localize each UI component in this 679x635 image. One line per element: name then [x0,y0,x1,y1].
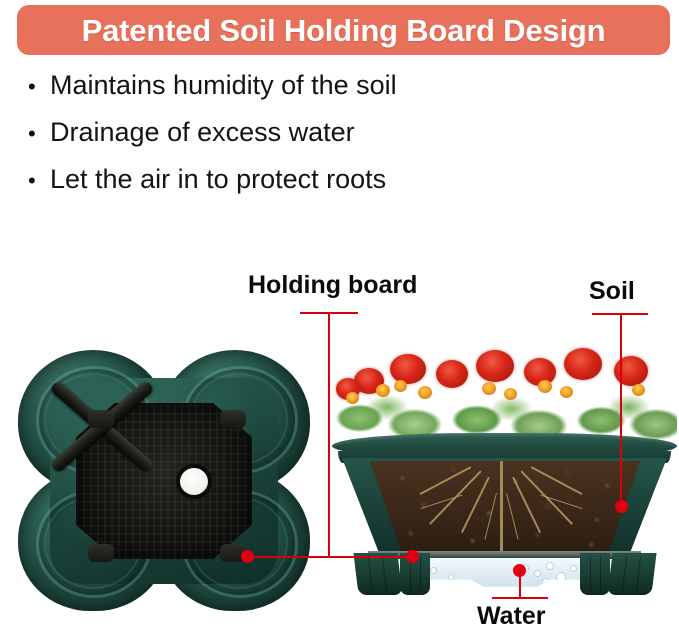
leader-line-soil-vertical [620,313,622,506]
list-item: • Let the air in to protect roots [28,166,588,213]
flower-canopy [332,330,677,440]
list-item: • Drainage of excess water [28,119,588,166]
feature-list: • Maintains humidity of the soil • Drain… [28,72,588,213]
callout-label-soil: Soil [589,279,635,304]
header-banner: Patented Soil Holding Board Design [17,5,670,55]
callout-label-holding-board: Holding board [248,273,417,298]
flower-bloom [436,360,468,388]
water-reservoir [400,558,608,588]
flower-bloom [390,354,426,384]
flower-bloom-small [394,380,407,392]
water-bubble [430,567,437,574]
root [484,493,497,540]
callout-dot-holding-board-left [241,550,254,563]
board-nub [88,544,114,562]
board-center-hole [180,468,208,495]
bullet-icon: • [28,76,50,98]
feature-text: Let the air in to protect roots [50,166,386,193]
leader-line-holding-board-vertical [328,312,330,556]
water-bubble [534,570,541,577]
root [500,461,503,553]
root [506,493,519,540]
water-bubble [570,565,577,572]
soil-holding-board-photo [14,348,314,613]
root [419,466,471,495]
water-bubble [542,578,549,585]
flower-bloom-small [346,392,359,404]
root [420,495,462,510]
callout-dot-holding-board-right [406,550,419,563]
planter-foot [353,553,402,595]
flower-bloom-small [632,384,645,396]
board-nub [220,410,246,428]
feature-text: Drainage of excess water [50,119,355,146]
callout-dot-soil [615,500,628,513]
leader-line-holding-board-right [328,556,414,558]
flower-bloom [476,350,514,382]
flower-bloom [564,348,602,380]
flower-bloom-small [418,386,432,399]
list-item: • Maintains humidity of the soil [28,72,588,119]
bullet-icon: • [28,123,50,145]
flower-bloom-small [560,386,573,398]
feature-text: Maintains humidity of the soil [50,72,397,99]
planter-foot [580,553,610,595]
infographic-page: Patented Soil Holding Board Design • Mai… [0,0,679,635]
planter-cross-section-photo [330,325,679,615]
callout-dot-water [513,564,526,577]
flower-bloom-small [504,388,517,400]
soil-fill [370,461,640,556]
leader-line-holding-board-horizontal [247,556,329,558]
flower-bloom-small [538,380,552,393]
flower-bloom-small [482,382,496,395]
bullet-icon: • [28,170,50,192]
callout-label-water: Water [477,604,546,629]
flower-bloom-small [376,384,390,397]
planter-foot [607,553,656,595]
water-bubble [448,574,454,580]
page-title: Patented Soil Holding Board Design [82,15,606,46]
root [540,495,582,510]
water-bubble [546,562,554,570]
board-lobes [14,348,314,613]
board-nub [88,410,114,428]
water-bubble [556,572,566,582]
